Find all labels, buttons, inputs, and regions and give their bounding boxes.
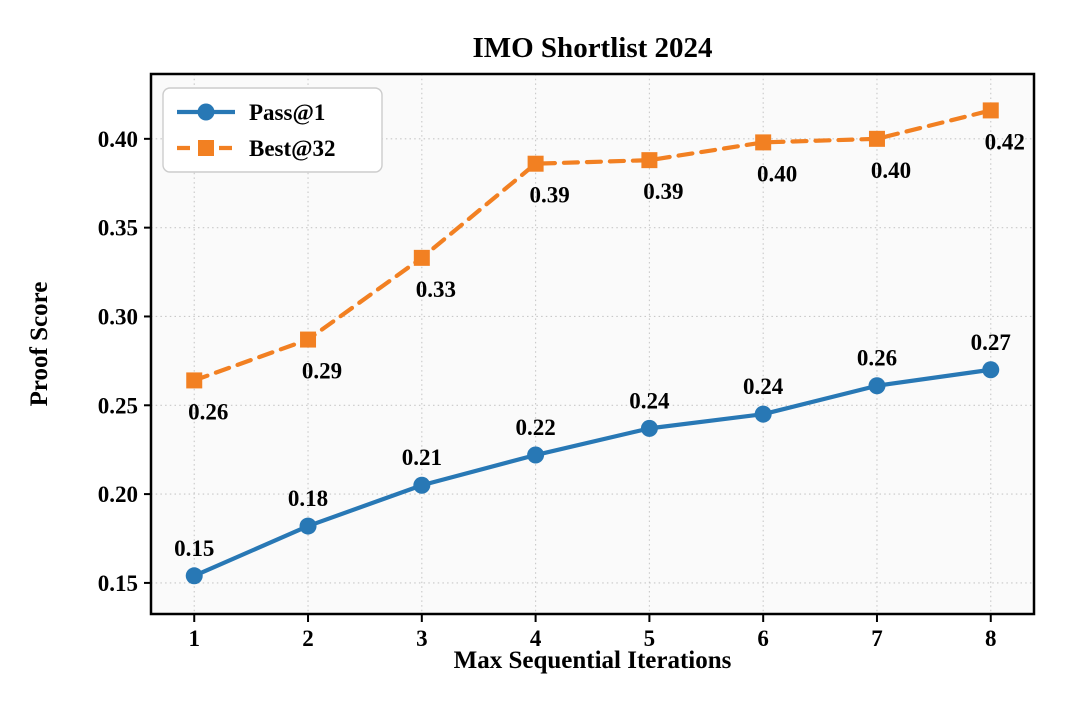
y-tick-label: 0.15 — [98, 571, 138, 596]
x-axis-label: Max Sequential Iterations — [454, 647, 732, 674]
chart-title: IMO Shortlist 2024 — [472, 32, 712, 64]
data-point-label: 0.15 — [174, 536, 214, 561]
data-point-label: 0.33 — [416, 277, 456, 302]
data-point-label: 0.22 — [515, 415, 555, 440]
data-point-marker — [413, 477, 430, 494]
data-point-label: 0.21 — [402, 445, 442, 470]
x-tick-label: 1 — [188, 626, 200, 651]
data-point-label: 0.24 — [743, 374, 784, 399]
legend-marker — [198, 140, 214, 156]
data-point-marker — [755, 406, 772, 423]
data-point-label: 0.40 — [871, 158, 911, 183]
data-point-label: 0.39 — [529, 183, 569, 208]
x-tick-label: 3 — [416, 626, 428, 651]
x-tick-label: 8 — [985, 626, 997, 651]
chart-figure: 0.150.200.250.300.350.40 12345678 0.150.… — [0, 0, 1080, 718]
data-point-marker — [414, 250, 430, 266]
data-point-label: 0.27 — [971, 330, 1011, 355]
data-point-marker — [641, 152, 657, 168]
data-point-marker — [186, 567, 203, 584]
data-point-label: 0.18 — [288, 486, 328, 511]
data-point-marker — [641, 420, 658, 437]
data-point-label: 0.39 — [643, 179, 683, 204]
y-tick-label: 0.30 — [98, 304, 138, 329]
data-point-label: 0.29 — [302, 359, 342, 384]
chart-legend[interactable]: Pass@1Best@32 — [163, 88, 382, 172]
legend-marker — [198, 104, 215, 121]
data-point-marker — [300, 518, 317, 535]
data-point-marker — [528, 156, 544, 172]
x-tick-label: 7 — [871, 626, 883, 651]
data-point-label: 0.24 — [629, 388, 670, 413]
chart-canvas: 0.150.200.250.300.350.40 12345678 0.150.… — [0, 0, 1080, 718]
legend-label-best-32: Best@32 — [249, 136, 336, 162]
data-point-marker — [983, 102, 999, 118]
data-point-label: 0.26 — [857, 346, 897, 371]
y-tick-label: 0.35 — [98, 216, 138, 241]
data-point-marker — [527, 447, 544, 464]
data-point-label: 0.26 — [188, 399, 228, 424]
data-point-marker — [868, 377, 885, 394]
y-axis-label: Proof Score — [26, 282, 53, 407]
data-point-label: 0.40 — [757, 161, 797, 186]
data-point-marker — [869, 131, 885, 147]
x-tick-label: 2 — [302, 626, 314, 651]
data-point-marker — [186, 372, 202, 388]
data-point-label: 0.42 — [985, 129, 1025, 154]
legend-label-pass-1: Pass@1 — [249, 100, 325, 126]
y-tick-label: 0.25 — [98, 393, 138, 418]
x-tick-label: 6 — [757, 626, 769, 651]
data-point-marker — [982, 361, 999, 378]
y-tick-label: 0.40 — [98, 127, 138, 152]
data-point-marker — [300, 332, 316, 348]
y-tick-label: 0.20 — [98, 482, 138, 507]
data-point-marker — [755, 134, 771, 150]
